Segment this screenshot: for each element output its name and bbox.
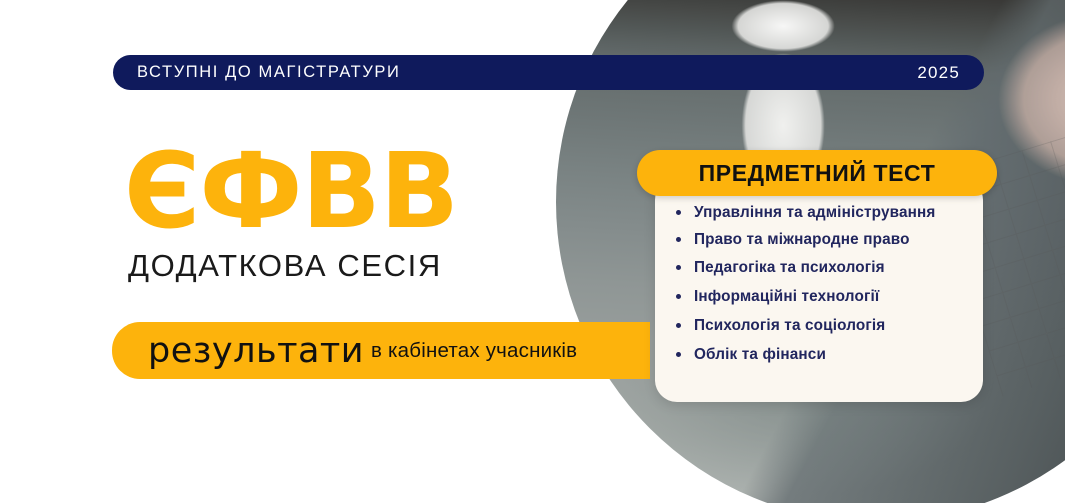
list-item: Управління та адміністрування: [672, 204, 992, 222]
list-item: Інформаційні технології: [672, 288, 992, 306]
list-item: Право та міжнародне право: [672, 231, 992, 249]
logo-subtitle: ДОДАТКОВА СЕСІЯ: [128, 248, 458, 284]
logo-wordmark: ЄФВВ: [124, 144, 458, 240]
results-note: в кабінетах учасників: [371, 339, 577, 363]
results-label: результати: [148, 331, 364, 371]
top-banner-bar: ВСТУПНІ ДО МАГІСТРАТУРИ 2025: [113, 55, 984, 90]
list-item: Облік та фінанси: [672, 346, 992, 364]
top-banner-title: ВСТУПНІ ДО МАГІСТРАТУРИ: [137, 63, 400, 82]
subject-test-list: Управління та адміністрування Право та м…: [672, 204, 992, 374]
results-banner: результати в кабінетах учасників: [112, 322, 650, 379]
list-item: Педагогіка та психологія: [672, 259, 992, 277]
poster-canvas: ВСТУПНІ ДО МАГІСТРАТУРИ 2025 ЄФВВ ДОДАТК…: [0, 0, 1065, 503]
brand-logo: ЄФВВ ДОДАТКОВА СЕСІЯ: [124, 144, 458, 284]
subject-test-heading-label: ПРЕДМЕТНИЙ ТЕСТ: [699, 160, 936, 187]
list-item: Психологія та соціологія: [672, 317, 992, 335]
top-banner-year: 2025: [917, 63, 960, 83]
subject-test-heading-pill: ПРЕДМЕТНИЙ ТЕСТ: [637, 150, 997, 196]
